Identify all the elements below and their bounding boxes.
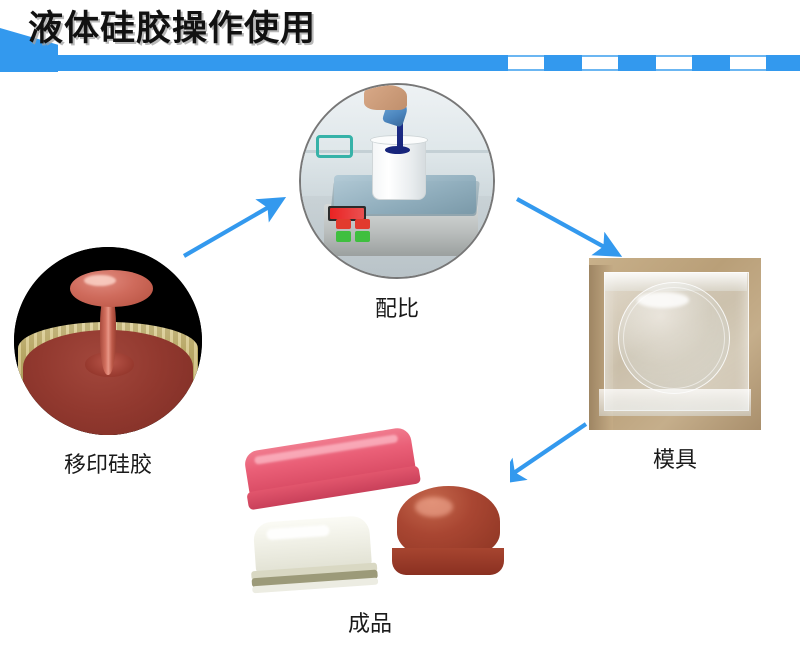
flow-node-label-products: 成品 — [230, 606, 510, 638]
products-photo — [230, 423, 510, 598]
dash-gap — [656, 55, 692, 71]
arrow-mould-to-products — [502, 424, 586, 481]
slide-canvas: 液体硅胶操作使用 移印硅胶 — [0, 0, 800, 650]
scale-button-red-2 — [355, 219, 370, 229]
flow-node-mixing[interactable]: 配比 — [299, 83, 495, 308]
scale-button-green-2 — [355, 231, 370, 243]
header-dashed-bar — [470, 55, 800, 71]
dash-segment — [692, 55, 730, 71]
arrow-mixing-to-mould — [517, 199, 617, 254]
dash-segment — [766, 55, 800, 71]
brown-dome-highlight-shape — [415, 497, 453, 517]
dash-segment — [544, 55, 582, 71]
silicone-photo — [14, 247, 202, 435]
flow-node-products[interactable]: 成品 — [230, 423, 510, 631]
white-pad-product — [247, 515, 378, 594]
brown-dome-product — [392, 486, 504, 577]
flow-node-label-silicone: 移印硅胶 — [14, 447, 202, 479]
dash-gap — [508, 55, 544, 71]
flow-node-label-mixing: 配比 — [299, 291, 495, 323]
brown-dome-base-shape — [392, 548, 504, 575]
flow-node-label-mould: 模具 — [589, 442, 761, 474]
wall-sign-shape — [316, 135, 353, 158]
scale-readout-shape — [330, 208, 365, 220]
dash-gap — [582, 55, 618, 71]
dash-segment — [470, 55, 508, 71]
header-accent-bar — [0, 55, 470, 71]
flow-node-mould[interactable]: 模具 — [589, 258, 761, 478]
acrylic-highlight-shape — [637, 292, 689, 307]
silicone-blob-shape — [70, 270, 153, 308]
brown-dome-body-shape — [397, 486, 500, 557]
dash-segment — [618, 55, 656, 71]
mould-photo — [589, 258, 761, 430]
flow-node-silicone[interactable]: 移印硅胶 — [14, 247, 202, 479]
operator-hand-shape — [364, 85, 406, 110]
scale-button-red-1 — [336, 219, 351, 229]
mixing-photo — [299, 83, 495, 279]
scale-button-green-1 — [336, 231, 351, 243]
slide-header: 液体硅胶操作使用 — [0, 0, 800, 78]
page-title: 液体硅胶操作使用 — [28, 6, 316, 52]
dash-gap — [730, 55, 766, 71]
acrylic-bottom-edge-shape — [599, 389, 750, 417]
